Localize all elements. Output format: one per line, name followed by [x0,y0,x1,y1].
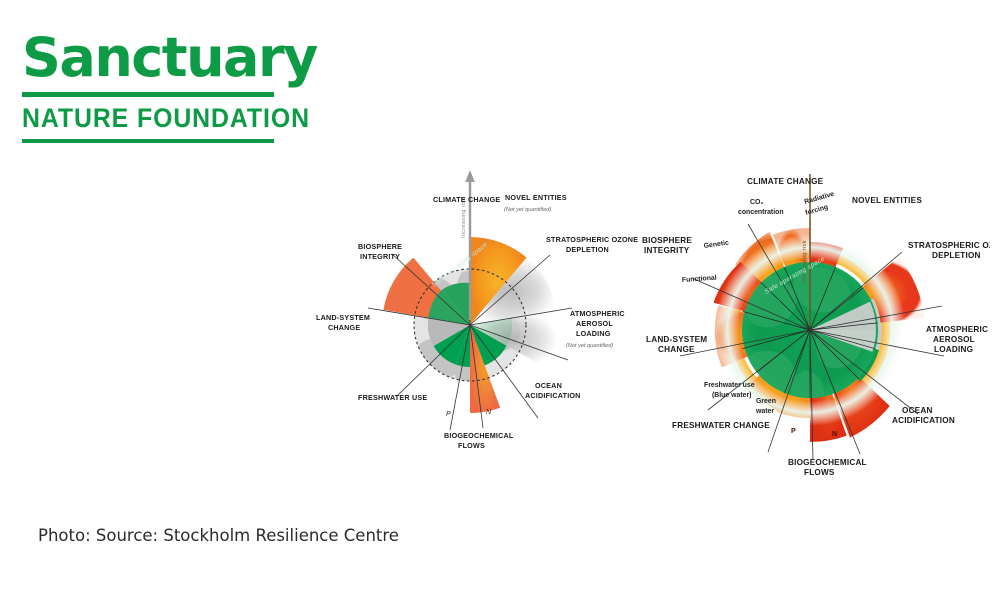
label-aerosol-loading-line3: LOADING [934,345,973,354]
label-ozone-depletion: STRATOSPHERIC OZONE [908,241,990,250]
logo-divider-top [22,92,274,97]
label-biogeochemical-flows: BIOGEOCHEMICAL [788,458,867,467]
increasing-risk-label: Increasing risk [802,240,808,282]
logo-divider-bottom [22,139,274,143]
label-novel-entities-note: (Not yet quantified) [504,207,551,213]
label-aerosol-loading: ATMOSPHERIC [570,309,625,318]
label-ozone-depletion-line2: DEPLETION [932,251,981,260]
label-green-water-line2: water [755,408,774,415]
label-biogeochemical-p: P [446,411,451,418]
label-freshwater-change: FRESHWATER CHANGE [672,421,770,430]
planetary-boundaries-chart-2023: Increasing risk Safe operating space CLI… [630,160,990,500]
planetary-boundaries-figure: Increasing risk Safe operating space CLI… [300,160,990,500]
label-ocean-acidification: OCEAN [902,406,933,415]
label-land-system-change: LAND-SYSTEM [646,335,707,344]
label-biosphere-integrity-line2: INTEGRITY [360,252,400,261]
label-land-system-change: LAND-SYSTEM [316,313,370,322]
label-ozone-depletion: STRATOSPHERIC OZONE [546,235,638,244]
label-climate-change: CLIMATE CHANGE [433,195,500,204]
label-freshwater-use-blue-line2: (Blue water) [712,392,751,399]
label-genetic: Genetic [703,240,729,250]
label-biosphere-integrity: BIOSPHERE [642,236,692,245]
label-ozone-depletion-line2: DEPLETION [566,245,609,254]
logo-subwordmark: NATURE FOUNDATION [22,103,254,133]
brand-logo: Sanctuary NATURE FOUNDATION [22,30,274,149]
label-radiative-forcing-line2: forcing [805,204,829,217]
label-co2-concentration: CO₂ [750,199,763,206]
label-ocean-acidification-line2: ACIDIFICATION [892,416,955,425]
label-ocean-acidification: OCEAN [535,381,562,390]
label-co2-concentration-line2: concentration [738,209,784,216]
label-biogeochemical-flows-line2: FLOWS [458,441,485,450]
label-biosphere-integrity-line2: INTEGRITY [644,246,690,255]
label-biogeochemical-p: P [791,426,796,435]
label-biogeochemical-flows: BIOGEOCHEMICAL [444,431,514,440]
label-novel-entities: NOVEL ENTITIES [852,196,922,205]
label-climate-change: CLIMATE CHANGE [747,177,824,186]
label-radiative-forcing: Radiative [804,191,836,206]
label-aerosol-loading-line2: AEROSOL [933,335,975,344]
logo-wordmark: Sanctuary [22,30,274,86]
label-freshwater-use-blue: Freshwater use [704,382,755,389]
label-land-system-change-line2: CHANGE [658,345,695,354]
label-aerosol-loading-line3: LOADING [576,329,611,338]
planetary-boundaries-chart-2015: Increasing risk Safe operating space CLI… [300,160,640,500]
label-novel-entities: NOVEL ENTITIES [505,193,567,202]
label-functional: Functional [682,275,717,284]
label-ocean-acidification-line2: ACIDIFICATION [525,391,581,400]
label-biogeochemical-flows-line2: FLOWS [804,468,835,477]
label-land-system-change-line2: CHANGE [328,323,360,332]
label-biogeochemical-n: N [832,429,837,438]
label-biosphere-integrity: BIOSPHERE [358,242,402,251]
label-freshwater-use: FRESHWATER USE [358,393,427,402]
label-aerosol-loading: ATMOSPHERIC [926,325,988,334]
photo-source-caption: Photo: Source: Stockholm Resilience Cent… [38,522,458,549]
label-aerosol-loading-line2: AEROSOL [576,319,613,328]
label-green-water: Green [756,398,776,405]
label-aerosol-loading-note: (Not yet quantified) [566,343,613,349]
